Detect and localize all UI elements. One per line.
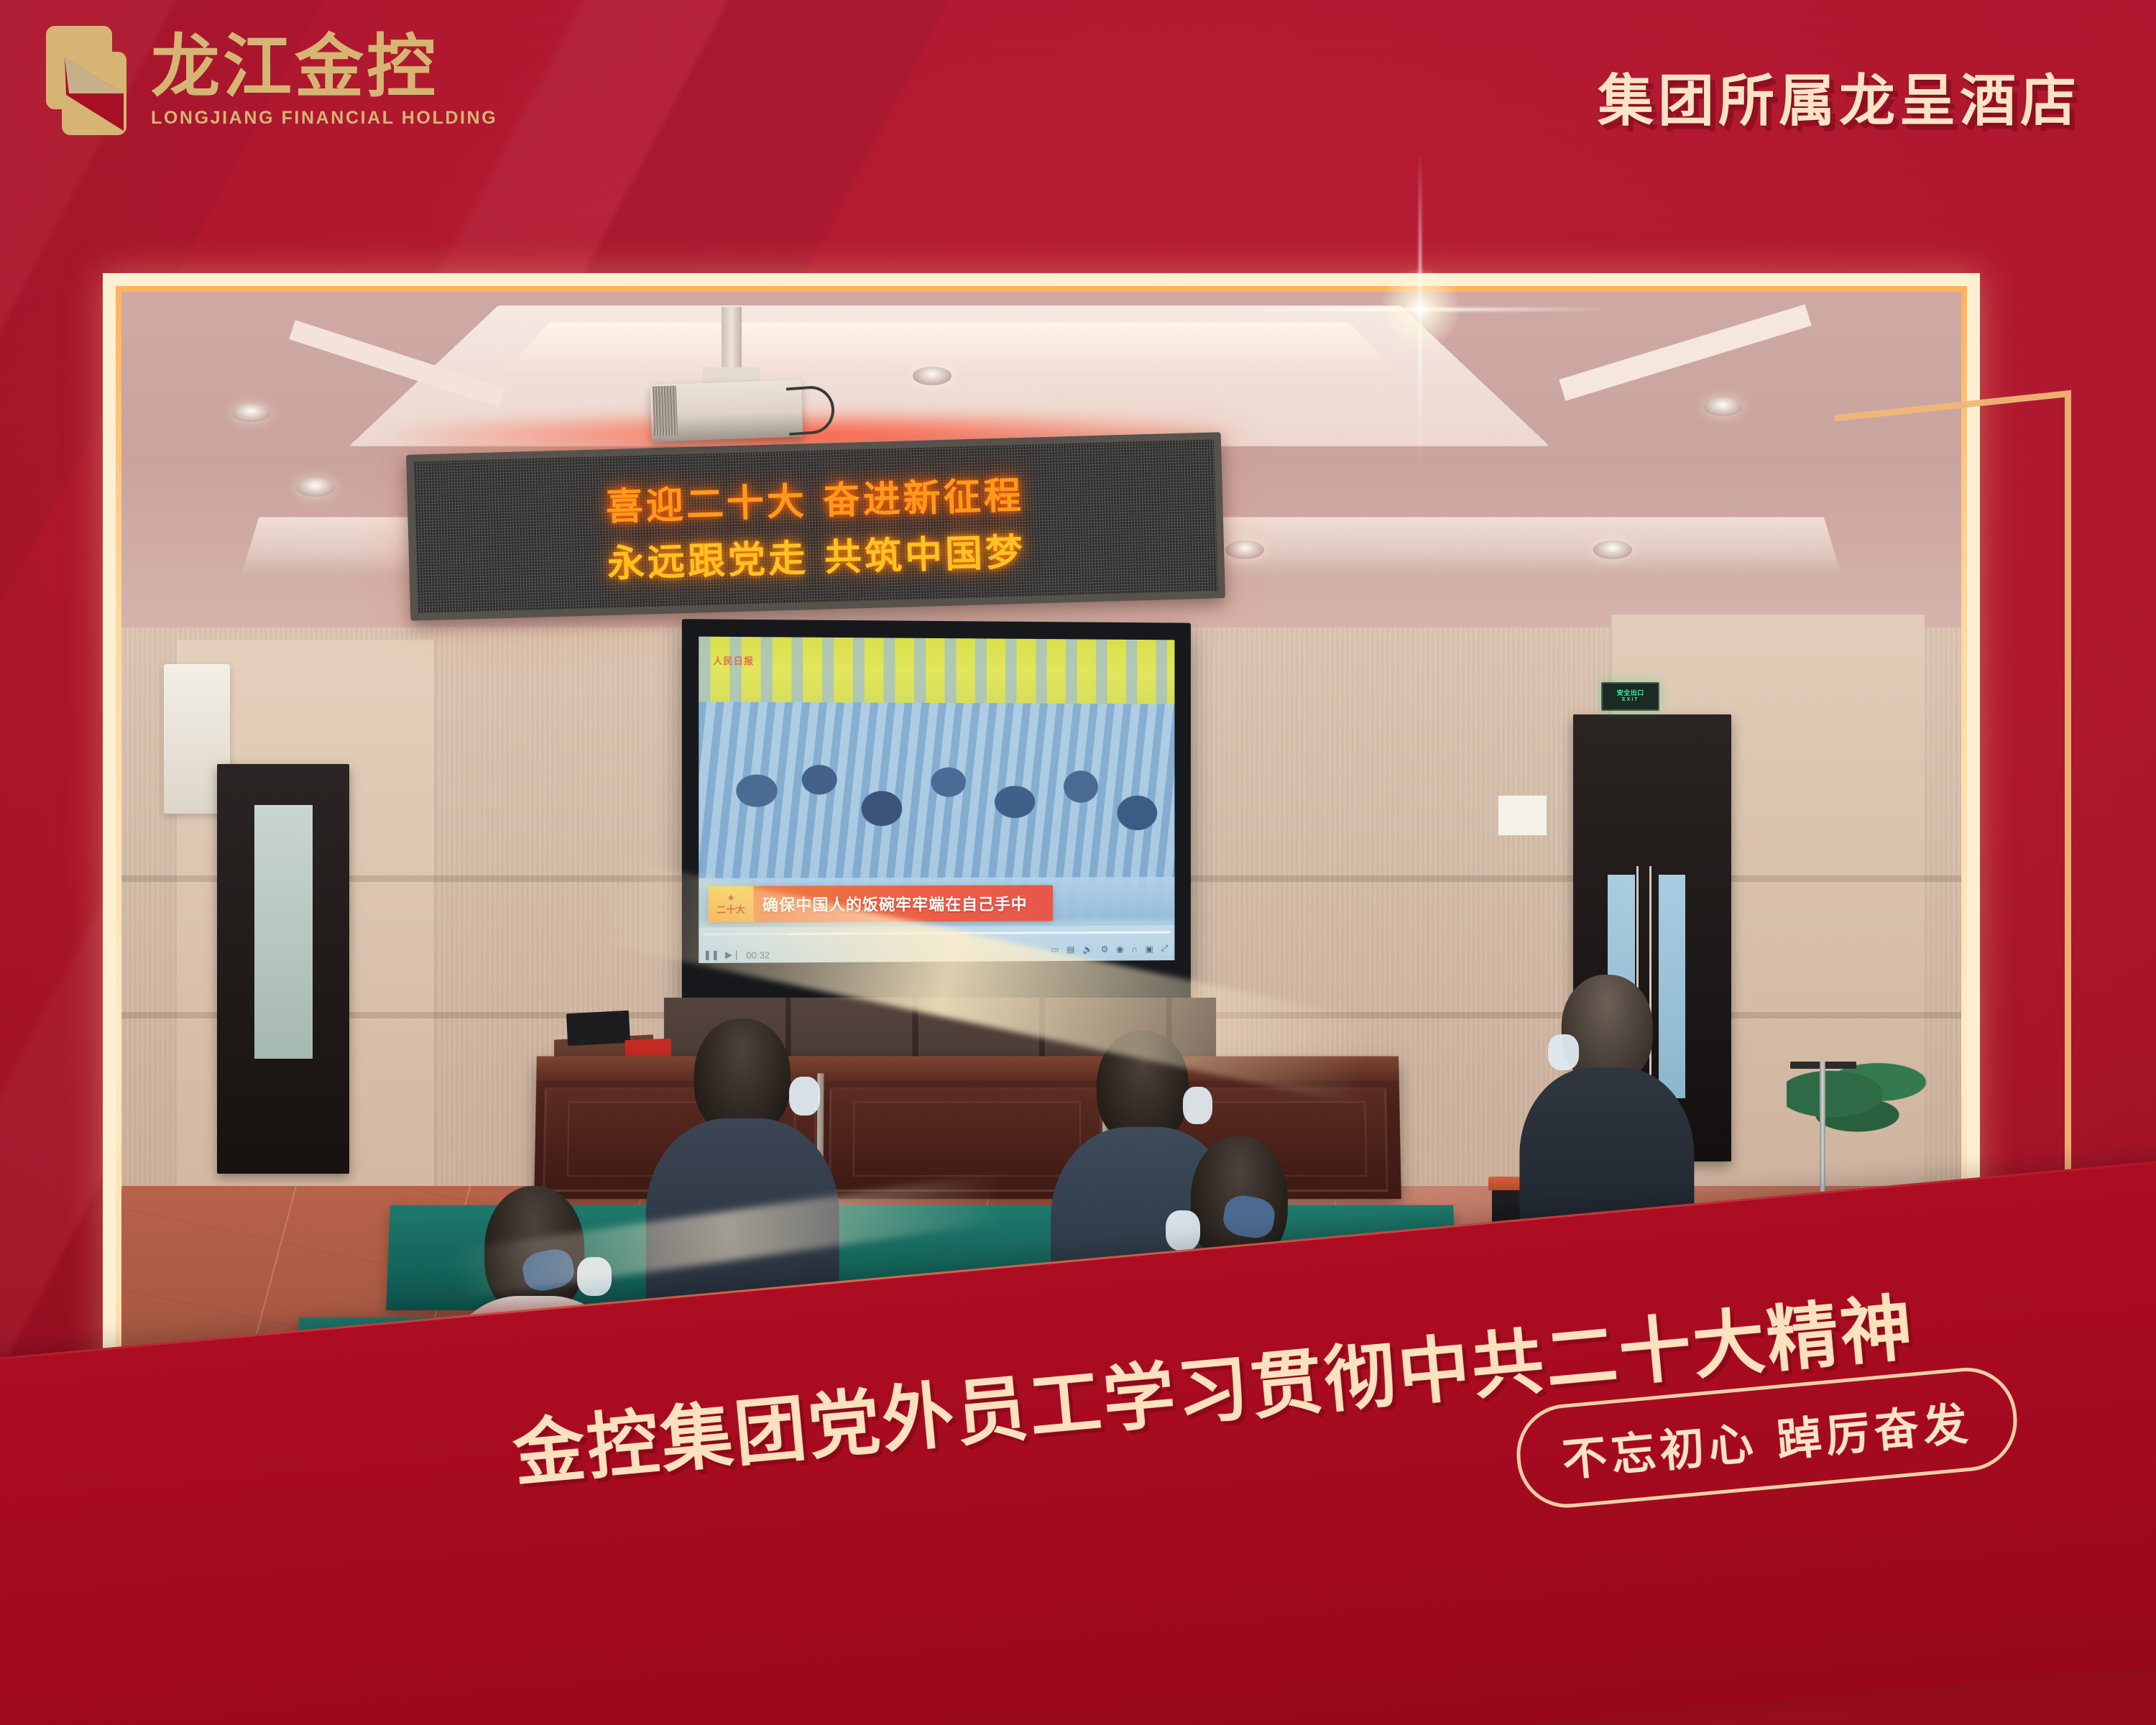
projector-mount-rod	[722, 307, 742, 372]
projection-screen: 人民日报 ★ 二十大 确保中国人的饭碗牢牢端在自己手中	[699, 637, 1175, 963]
video-elapsed-time: 00:32	[747, 949, 770, 960]
party-emblem-icon: ★	[727, 893, 735, 901]
face-mask	[577, 1257, 612, 1296]
broadcast-subtitle-bar: ★ 二十大 确保中国人的饭碗牢牢端在自己手中	[709, 885, 1053, 922]
ceiling-light-slot	[499, 323, 1399, 377]
fullscreen-icon[interactable]: ⤢	[1161, 943, 1168, 954]
poster-root: 龙江金控 LONGJIANG FINANCIAL HOLDING 集团所属龙呈酒…	[0, 0, 2156, 1725]
downlight-icon	[1225, 540, 1264, 559]
brand-logo: 龙江金控 LONGJIANG FINANCIAL HOLDING	[43, 23, 497, 138]
projection-screen-frame: 人民日报 ★ 二十大 确保中国人的饭碗牢牢端在自己手中	[682, 619, 1191, 1008]
led-banner-line-2: 永远跟党走 共筑中国梦	[607, 522, 1026, 587]
speed-icon[interactable]: ◉	[1117, 944, 1124, 954]
next-icon[interactable]: ▶❘	[725, 949, 740, 960]
led-banner-line-1: 喜迎二十大 奋进新征程	[605, 465, 1025, 530]
downlight-icon	[296, 478, 335, 497]
downlight-icon	[1593, 540, 1632, 559]
settings-icon[interactable]: ⚙	[1101, 944, 1109, 954]
laptop	[566, 1011, 630, 1046]
wall-notice-plate	[1498, 795, 1547, 836]
downlight-icon	[913, 367, 952, 385]
door-left	[217, 764, 349, 1174]
exit-sign-cn: 安全出口	[1617, 690, 1644, 696]
hotel-title: 集团所属龙呈酒店	[1598, 56, 2081, 137]
slogan-pill-text: 不忘初心 踔厉奋发	[1560, 1397, 1974, 1487]
led-scrolling-banner: 喜迎二十大 奋进新征程 永远跟党走 共筑中国梦	[406, 432, 1225, 620]
broadcast-congress-badge: ★ 二十大	[709, 886, 754, 922]
play-pause-icon[interactable]: ❚❚	[704, 949, 719, 961]
exit-sign-en: EXIT	[1622, 696, 1639, 703]
door-left-glass	[254, 805, 313, 1059]
longjiang-square-mark-icon	[43, 23, 129, 138]
projector-vent	[653, 386, 678, 436]
broadcast-subtitle-text: 确保中国人的饭碗牢牢端在自己手中	[754, 892, 1028, 916]
picture-in-picture-icon[interactable]: ▣	[1146, 944, 1153, 954]
downlight-icon	[1704, 397, 1743, 416]
headphone-icon[interactable]: ∩	[1132, 944, 1138, 954]
face-mask	[1183, 1087, 1212, 1124]
video-player-bar[interactable]: ❚❚ ▶❘ 00:32 ▭ ▤ 🔊 ⚙ ◉ ∩ ▣	[699, 925, 1175, 963]
exit-sign: 安全出口 EXIT	[1601, 682, 1659, 711]
video-progress-bar[interactable]	[704, 931, 1171, 936]
broadcast-channel-logo: 人民日报	[714, 653, 755, 667]
volume-icon[interactable]: 🔊	[1083, 944, 1094, 954]
face-mask	[1548, 1034, 1580, 1070]
clip-icon[interactable]: ▤	[1067, 944, 1075, 954]
face-mask	[1166, 1210, 1200, 1251]
attendee-head	[1562, 975, 1652, 1082]
attendee-head	[694, 1018, 791, 1135]
screenshot-icon[interactable]: ▭	[1051, 944, 1059, 954]
stand-pole	[1820, 1062, 1825, 1204]
video-controls-left[interactable]: ❚❚ ▶❘ 00:32	[704, 949, 770, 961]
face-mask	[789, 1077, 820, 1115]
video-controls-right[interactable]: ▭ ▤ 🔊 ⚙ ◉ ∩ ▣ ⤢	[1051, 943, 1168, 954]
attendee-head	[1097, 1031, 1189, 1143]
brand-name-cn: 龙江金控	[151, 32, 497, 103]
broadcast-badge-label: 二十大	[717, 901, 746, 915]
video-progress-fill	[704, 933, 789, 936]
brand-name-en: LONGJIANG FINANCIAL HOLDING	[151, 108, 497, 129]
brand-logo-text: 龙江金控 LONGJIANG FINANCIAL HOLDING	[151, 32, 497, 129]
